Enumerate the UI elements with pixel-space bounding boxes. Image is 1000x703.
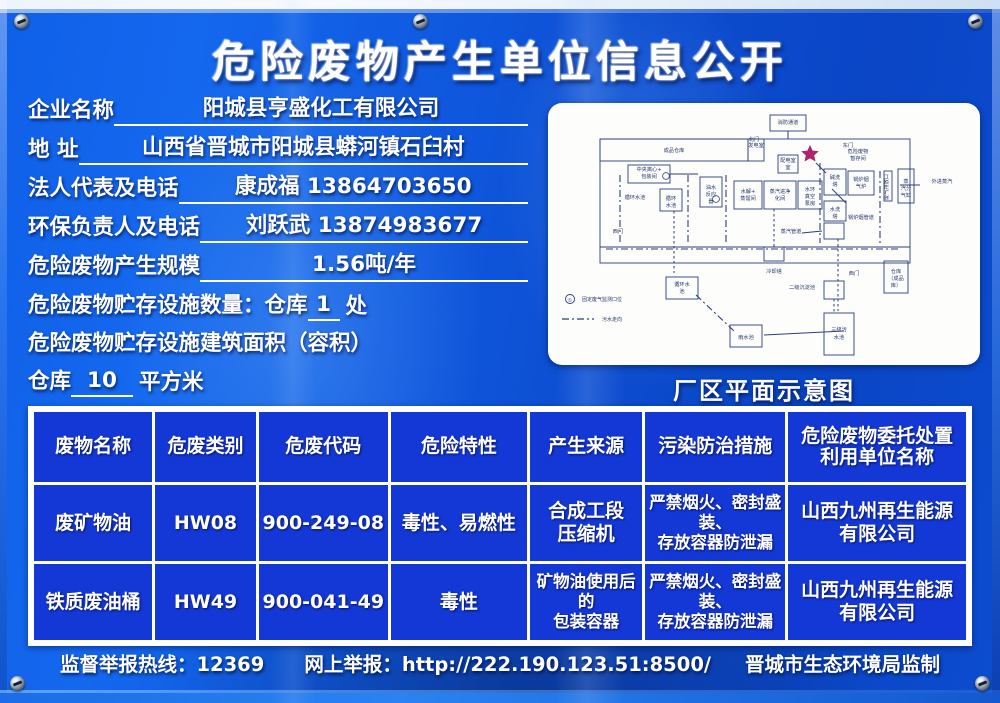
- information-board: 危险废物产生单位信息公开 企业名称 阳城县亨盛化工有限公司 地 址 山西省晋城市…: [0, 0, 1000, 703]
- svg-text:气炉: 气炉: [856, 182, 866, 190]
- cell-source: 矿物油使用后的 包装容器: [530, 564, 642, 640]
- screw-top-left: [14, 14, 29, 29]
- value-storage-area: 10: [71, 367, 133, 397]
- handler-line2: 有限公司: [790, 602, 964, 625]
- svg-text:三级污: 三级污: [831, 325, 847, 333]
- page-title: 危险废物产生单位信息公开: [0, 28, 1000, 90]
- cell-disposal-unit: 山西九州再生能源 有限公司: [788, 485, 966, 561]
- svg-text:循环水池: 循环水池: [625, 193, 646, 201]
- cell-waste-name: 废矿物油: [34, 485, 152, 561]
- disposal-unit-line1: 危险废物委托处置: [790, 426, 964, 447]
- svg-text:反应: 反应: [706, 190, 716, 198]
- hazardous-waste-table: 废物名称 危废类别 危废代码 危险特性 产生来源 污染防治措施 危险废物委托处置…: [28, 406, 972, 646]
- board-right-edge: [992, 0, 1000, 703]
- label-storage-count: 危险废物贮存设施数量：仓库: [28, 291, 308, 321]
- svg-text:蒸: 蒸: [903, 177, 908, 185]
- measure-line1: 严禁烟火、密封盛装、: [647, 493, 783, 533]
- measure-line1: 严禁烟火、密封盛装、: [647, 572, 783, 612]
- svg-text:二级沉淀池: 二级沉淀池: [789, 283, 815, 291]
- svg-text:塔: 塔: [832, 212, 838, 220]
- measure-line2: 存放容器防泄漏: [647, 533, 783, 553]
- table-row: 废矿物油 HW08 900-249-08 毒性、易燃性 合成工段 压缩机 严禁烟…: [34, 485, 966, 561]
- svg-text:蒸汽管道: 蒸汽管道: [781, 227, 802, 235]
- info-row-storage-area-value: 仓库 10 平方米: [28, 365, 528, 397]
- handler-line1: 山西九州再生能源: [790, 579, 964, 602]
- svg-text:雨水池: 雨水池: [738, 333, 754, 341]
- factory-layout-diagram: ① 成品仓库 消防通道 发电室 东门 危险废物 暂存间 配电室 室 中央离心+ …: [548, 103, 980, 365]
- cell-waste-code: 900-249-08: [259, 485, 388, 561]
- svg-text:循环水: 循环水: [674, 280, 690, 288]
- svg-text:池: 池: [679, 287, 684, 295]
- svg-text:气缸: 气缸: [901, 191, 911, 199]
- label-legal-rep: 法人代表及电话: [28, 174, 179, 204]
- svg-text:仓库: 仓库: [891, 267, 901, 275]
- svg-text:中央离心+: 中央离心+: [636, 165, 661, 173]
- company-info-block: 企业名称 阳城县亨盛化工有限公司 地 址 山西省晋城市阳城县蟒河镇石臼村 法人代…: [28, 94, 528, 404]
- diagram-canvas: ① 成品仓库 消防通道 发电室 东门 危险废物 暂存间 配电室 室 中央离心+ …: [548, 103, 980, 365]
- source-line2: 包装容器: [532, 612, 640, 632]
- value-company-name: 阳城县亨盛化工有限公司: [114, 95, 528, 126]
- svg-text:水池: 水池: [666, 201, 676, 209]
- col-header-waste-category: 危废类别: [155, 412, 256, 482]
- screw-top-center: [413, 14, 428, 29]
- board-top-edge: [0, 0, 1000, 9]
- label-generation-scale: 危险废物产生规模: [28, 252, 200, 282]
- cell-waste-code: 900-041-49: [259, 564, 388, 640]
- cell-waste-category: HW49: [155, 564, 256, 640]
- info-row-env-officer: 环保负责人及电话 刘跃武 13874983677: [28, 211, 528, 243]
- col-header-waste-name: 废物名称: [34, 412, 152, 482]
- unit-storage-count: 处: [340, 293, 368, 321]
- svg-text:消防通道: 消防通道: [778, 118, 799, 126]
- svg-text:①: ①: [568, 298, 573, 304]
- svg-text:蒸汽进净: 蒸汽进净: [770, 187, 791, 195]
- screw-bottom-left: [10, 676, 25, 691]
- cell-disposal-unit: 山西九州再生能源 有限公司: [788, 564, 966, 640]
- measure-line2: 存放容器防泄漏: [647, 612, 783, 632]
- info-row-company-name: 企业名称 阳城县亨盛化工有限公司: [28, 94, 528, 126]
- col-header-hazard-property: 危险特性: [391, 412, 527, 482]
- info-row-storage-count: 危险废物贮存设施数量：仓库 1 处: [28, 289, 528, 321]
- cell-source: 合成工段 压缩机: [530, 485, 642, 561]
- footer-issuer: 晋城市生态环境局监制: [745, 648, 940, 677]
- handler-line2: 有限公司: [790, 523, 964, 546]
- board-bottom-edge: [0, 693, 1000, 703]
- svg-text:包装间: 包装间: [641, 172, 657, 180]
- board-left-edge: [0, 0, 7, 703]
- cell-waste-name: 铁质废油桶: [34, 564, 152, 640]
- svg-text:成品仓库: 成品仓库: [664, 146, 685, 154]
- source-line2: 压缩机: [532, 523, 640, 546]
- svg-text:循环: 循环: [666, 194, 676, 202]
- svg-text:锅炉烟管道: 锅炉烟管道: [848, 213, 874, 221]
- svg-text:污水走向: 污水走向: [602, 316, 622, 323]
- svg-text:化间: 化间: [775, 194, 785, 202]
- col-header-disposal-unit: 危险废物委托处置 利用单位名称: [788, 412, 966, 482]
- svg-text:配电室: 配电室: [780, 156, 796, 164]
- svg-text:东门: 东门: [843, 141, 853, 149]
- svg-text:碱洗: 碱洗: [830, 173, 841, 181]
- value-generation-scale: 1.56吨/年: [200, 251, 528, 282]
- screw-top-right: [968, 14, 983, 29]
- svg-text:器: 器: [708, 198, 714, 205]
- value-address: 山西省晋城市阳城县蟒河镇石臼村: [79, 134, 529, 165]
- svg-text:危险废物: 危险废物: [848, 147, 869, 155]
- value-storage-count: 1: [308, 291, 340, 321]
- svg-text:汽分: 汽分: [901, 184, 911, 192]
- diagram-caption: 厂区平面示意图: [548, 371, 980, 406]
- footer-hotline: 监督举报热线：12369: [60, 648, 264, 677]
- svg-text:水池: 水池: [834, 333, 844, 341]
- svg-text:水环: 水环: [805, 185, 815, 193]
- svg-text:废气排放口: 废气排放口: [882, 174, 890, 200]
- svg-text:塔: 塔: [832, 180, 838, 188]
- cell-control-measure: 严禁烟火、密封盛装、 存放容器防泄漏: [645, 564, 785, 640]
- svg-text:冷却塔: 冷却塔: [766, 267, 782, 275]
- label-env-officer: 环保负责人及电话: [28, 213, 200, 243]
- svg-text:外进蒸汽: 外进蒸汽: [932, 177, 954, 185]
- svg-text:锅炉烟: 锅炉烟: [853, 175, 869, 183]
- svg-text:北门: 北门: [749, 135, 759, 143]
- info-row-address: 地 址 山西省晋城市阳城县蟒河镇石臼村: [28, 133, 528, 165]
- col-header-source: 产生来源: [530, 412, 642, 482]
- svg-text:（成品: （成品: [888, 274, 904, 282]
- label-company-name: 企业名称: [28, 96, 114, 126]
- svg-text:西门: 西门: [613, 227, 623, 235]
- info-row-legal-rep: 法人代表及电话 康成福 13864703650: [28, 172, 528, 204]
- table-row: 铁质废油桶 HW49 900-041-49 毒性 矿物油使用后的 包装容器 严禁…: [34, 564, 966, 640]
- svg-text:固定废气监测口位: 固定废气监测口位: [582, 296, 622, 303]
- source-line1: 矿物油使用后的: [532, 572, 640, 612]
- svg-text:油水: 油水: [706, 183, 717, 191]
- info-row-storage-area-label: 危险废物贮存设施建筑面积（容积）: [28, 328, 528, 358]
- cell-control-measure: 严禁烟火、密封盛装、 存放容器防泄漏: [645, 485, 785, 561]
- info-row-generation-scale: 危险废物产生规模 1.56吨/年: [28, 250, 528, 282]
- footer-bar: 监督举报热线：12369 网上举报：http://222.190.123.51:…: [0, 648, 1000, 677]
- svg-text:西门: 西门: [849, 269, 859, 277]
- svg-text:水洗: 水洗: [830, 205, 841, 213]
- col-header-waste-code: 危废代码: [259, 412, 388, 482]
- source-line1: 合成工段: [532, 500, 640, 523]
- value-legal-rep: 康成福 13864703650: [179, 173, 528, 204]
- label-storage-area: 危险废物贮存设施建筑面积（容积）: [28, 330, 372, 358]
- svg-text:泵房: 泵房: [805, 199, 815, 207]
- cell-hazard-property: 毒性、易燃性: [391, 485, 527, 561]
- table-header-row: 废物名称 危废类别 危废代码 危险特性 产生来源 污染防治措施 危险废物委托处置…: [34, 412, 966, 482]
- board-top-highlight: [0, 9, 1000, 13]
- handler-line1: 山西九州再生能源: [790, 500, 964, 523]
- svg-text:暂存间: 暂存间: [850, 154, 866, 162]
- footer-online-report: 网上举报：http://222.190.123.51:8500/: [304, 648, 711, 677]
- cell-hazard-property: 毒性: [391, 564, 527, 640]
- svg-text:库）: 库）: [891, 281, 901, 289]
- label-address: 地 址: [28, 135, 79, 165]
- label-storage-area-prefix: 仓库: [28, 367, 71, 397]
- screw-bottom-right: [975, 676, 990, 691]
- svg-text:室: 室: [785, 163, 790, 171]
- value-env-officer: 刘跃武 13874983677: [200, 212, 528, 243]
- unit-storage-area: 平方米: [133, 369, 204, 397]
- disposal-unit-line2: 利用单位名称: [790, 447, 964, 468]
- svg-text:蒸馏间: 蒸馏间: [740, 194, 756, 202]
- cell-waste-category: HW08: [155, 485, 256, 561]
- svg-text:真空: 真空: [805, 192, 815, 200]
- svg-text:水解+: 水解+: [741, 187, 756, 195]
- col-header-control-measure: 污染防治措施: [645, 412, 785, 482]
